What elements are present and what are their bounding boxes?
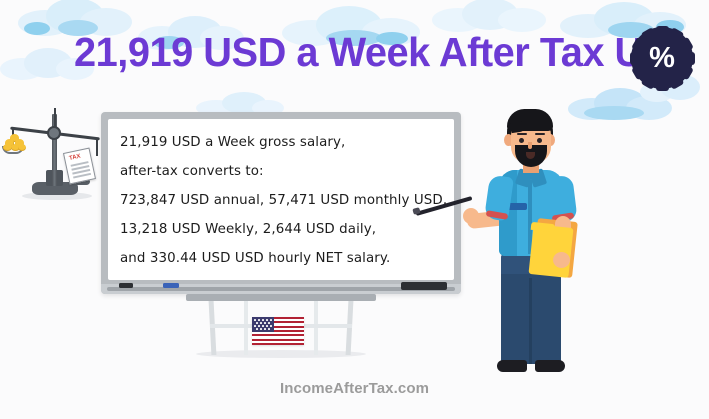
- teacher-character-illustration: [455, 108, 595, 376]
- character-shoe-right: [535, 360, 565, 372]
- board-line-1: 21,919 USD a Week gross salary,: [120, 128, 447, 157]
- site-footer: IncomeAfterTax.com: [0, 380, 709, 397]
- page-title: 21,919 USD a Week After Tax US: [74, 27, 623, 77]
- percent-symbol-icon: %: [631, 27, 693, 89]
- character-nose: [528, 142, 532, 149]
- whiteboard-text: 21,919 USD a Week gross salary, after-ta…: [120, 128, 447, 273]
- stand-leg-left: [209, 301, 217, 355]
- eraser-icon: [401, 282, 447, 290]
- infographic-canvas: 21,919 USD a Week After Tax US %: [0, 0, 709, 419]
- stand-shadow: [196, 350, 366, 358]
- character-eye-left: [519, 138, 524, 143]
- marker-blue-icon: [163, 283, 179, 288]
- tax-document-label: TAX: [69, 154, 82, 162]
- stand-leg-inner-left: [244, 301, 248, 355]
- us-flag-icon: [252, 317, 304, 345]
- stand-leg-inner-right: [314, 301, 318, 355]
- percent-badge: %: [631, 27, 693, 89]
- board-line-2: after-tax converts to:: [120, 157, 447, 186]
- board-line-3: 723,847 USD annual, 57,471 USD monthly U…: [120, 186, 447, 215]
- board-line-4: 13,218 USD Weekly, 2,644 USD daily,: [120, 215, 447, 244]
- tax-document-icon: TAX: [63, 148, 96, 185]
- balance-scale-illustration: TAX: [2, 108, 110, 203]
- scale-pivot: [47, 126, 61, 140]
- folder-front-icon: [528, 224, 573, 278]
- character-hand-left: [463, 208, 479, 224]
- marker-tray: [101, 284, 461, 294]
- whiteboard: 21,919 USD a Week gross salary, after-ta…: [101, 112, 461, 294]
- board-line-5: and 330.44 USD USD hourly NET salary.: [120, 244, 447, 273]
- character-eye-right: [537, 138, 542, 143]
- marker-black-icon: [119, 283, 133, 288]
- stand-top-bar: [186, 294, 376, 301]
- character-shoe-left: [497, 360, 527, 372]
- flag-canton: [252, 317, 274, 332]
- scale-string-right: [96, 140, 98, 156]
- stand-leg-right: [346, 301, 354, 355]
- character-pant-seam: [529, 278, 532, 364]
- character-hand-right: [553, 252, 570, 268]
- gold-coins-icon: [3, 134, 25, 150]
